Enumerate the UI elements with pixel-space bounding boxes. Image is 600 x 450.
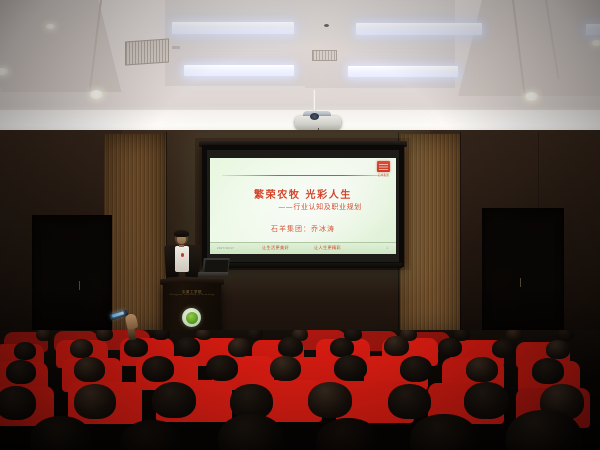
audience-head (196, 330, 212, 340)
speaker-shirt (175, 246, 189, 272)
downlight-3 (90, 90, 103, 99)
audience-head (14, 342, 36, 360)
slide-footer-date: 2017/10/17 (217, 246, 234, 250)
slide-title: 繁荣农牧 光彩人生 (210, 186, 396, 201)
audience-head (36, 330, 52, 341)
audience-head (464, 382, 509, 419)
downlight-1 (46, 24, 55, 29)
audience-head (70, 339, 93, 358)
smoke-detector-icon (324, 24, 329, 27)
audience-head (388, 384, 431, 419)
wall-seam-3 (460, 132, 461, 332)
stage-door-right[interactable] (482, 208, 564, 336)
ceiling-light-panel-4 (348, 66, 458, 77)
audience-head (308, 382, 352, 418)
audience-head (270, 356, 301, 381)
audience-head (74, 357, 105, 382)
stage-door-left[interactable] (32, 215, 112, 335)
door-handle-right (520, 278, 521, 287)
audience-head (400, 356, 432, 382)
audience-head (384, 336, 409, 356)
ceiling-light-panel-5 (586, 24, 600, 35)
wood-panel-left (104, 134, 166, 334)
audience-head (492, 339, 516, 358)
audience-head (124, 338, 148, 357)
audience-head (152, 382, 196, 418)
audience-head (334, 355, 367, 381)
presenter-laptop-screen (204, 260, 228, 272)
slide-footer-slogan-left: 让生活更美好 (262, 245, 289, 251)
speaker-tie-accent (181, 253, 184, 257)
ceiling-soffit-right (458, 0, 600, 96)
slide-footer: 2017/10/17 让生活更美好 让人生更精彩 1 (210, 242, 396, 254)
slide-footer-slogan-right: 让人生更精彩 (314, 245, 341, 251)
audience-head (0, 386, 36, 420)
lecture-hall-photo: EPSON 石羊集团 繁荣农牧 光彩人生 ——行业认知及职业规划 石羊集团：乔冰… (0, 0, 600, 450)
slide-divider (222, 175, 384, 176)
ceiling-soffit-left (0, 0, 121, 92)
audience-head (206, 355, 238, 381)
presenter-laptop-base (198, 272, 229, 277)
school-crest-icon (182, 308, 201, 327)
audience-head (246, 330, 263, 340)
presentation-slide: 石羊集团 繁荣农牧 光彩人生 ——行业认知及职业规划 石羊集团：乔冰涛 2017… (210, 158, 396, 254)
lectern-inscription-en: Zhongyuan University of Technology (163, 294, 221, 296)
door-handle-left (79, 281, 80, 290)
wood-panel-right (400, 134, 460, 334)
company-logo-icon (377, 161, 390, 172)
audience-member-filming-with-phone (108, 306, 142, 340)
air-vent-left (125, 38, 169, 65)
slide-page-number: 1 (386, 246, 388, 250)
audience-head (532, 358, 564, 384)
audience-head (74, 384, 116, 419)
audience-head (142, 356, 174, 382)
audience-head (228, 338, 251, 357)
slide-subtitle: ——行业认知及职业规划 (210, 202, 396, 212)
audience-head (466, 357, 498, 382)
downlight-5 (592, 40, 600, 46)
ceiling-light-panel-2 (356, 23, 482, 35)
ceiling-fitting (172, 46, 180, 49)
audience-head (546, 340, 570, 359)
audience-seating (0, 330, 600, 450)
company-logo-mark (379, 164, 388, 170)
audience-head (278, 337, 303, 357)
slide-presenter-line: 石羊集团：乔冰涛 (210, 224, 396, 234)
projection-screen-weight-bar (204, 263, 402, 268)
audience-head (6, 360, 36, 384)
ceiling-light-panel-1 (172, 22, 294, 34)
ceiling-light-panel-3 (184, 65, 294, 76)
audience-head (176, 337, 200, 357)
school-crest-core (186, 312, 198, 324)
downlight-4 (525, 92, 538, 101)
air-vent-center (312, 50, 337, 61)
audience-head (438, 338, 462, 357)
downlight-2 (0, 68, 8, 75)
audience-head (152, 330, 170, 340)
audience-head-foreground (120, 420, 184, 450)
projector-lens-icon (310, 113, 319, 120)
speaker-hair (174, 230, 189, 237)
projection-screen: 石羊集团 繁荣农牧 光彩人生 ——行业认知及职业规划 石羊集团：乔冰涛 2017… (207, 150, 399, 262)
